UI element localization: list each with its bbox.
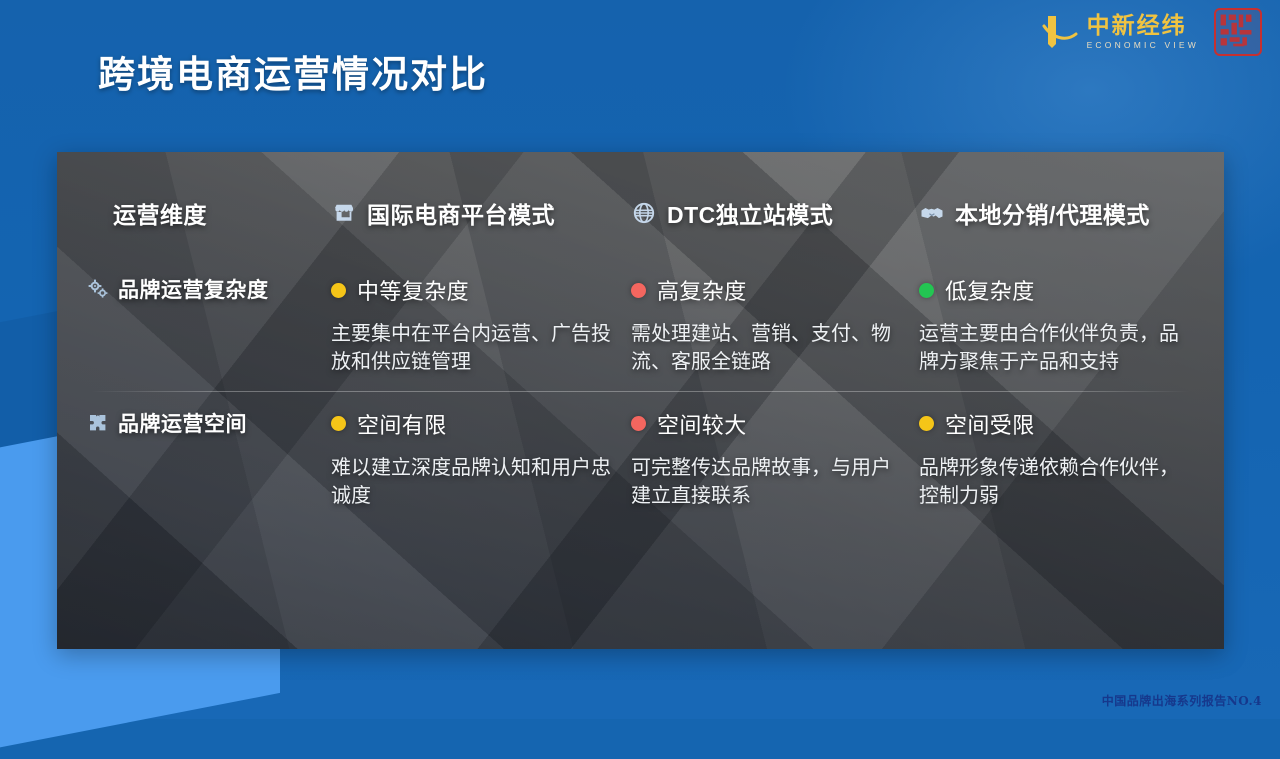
header-label: 本地分销/代理模式 xyxy=(955,196,1150,230)
cell-description: 运营主要由合作伙伴负责，品牌方聚焦于产品和支持 xyxy=(919,320,1200,377)
row-header-space: 品牌运营空间 xyxy=(81,408,331,438)
status-badge: 中等复杂度 xyxy=(357,274,469,306)
gears-icon xyxy=(87,278,109,300)
brand-logo: 中新经纬 ECONOMIC VIEW xyxy=(1042,8,1262,56)
cell-description: 难以建立深度品牌认知和用户忠诚度 xyxy=(331,454,631,511)
header-cell-dimension: 运营维度 xyxy=(81,196,331,230)
comparison-table: 运营维度 国际电商平台模式 DTC独立站模式 xyxy=(57,152,1224,649)
row-label: 品牌运营空间 xyxy=(118,408,247,438)
row-label: 品牌运营复杂度 xyxy=(118,274,269,304)
cell-description: 主要集中在平台内运营、广告投放和供应链管理 xyxy=(331,320,631,377)
table-row: 品牌运营复杂度 中等复杂度 主要集中在平台内运营、广告投放和供应链管理 高复杂度… xyxy=(81,258,1200,391)
cell-complexity-local: 低复杂度 运营主要由合作伙伴负责，品牌方聚焦于产品和支持 xyxy=(919,274,1200,377)
cell-space-dtc: 空间较大 可完整传达品牌故事，与用户建立直接联系 xyxy=(631,408,919,511)
status-dot xyxy=(631,283,646,298)
status-badge: 低复杂度 xyxy=(945,274,1035,306)
status-badge: 空间较大 xyxy=(657,408,747,440)
red-seal-icon xyxy=(1214,8,1262,56)
page-title: 跨境电商运营情况对比 xyxy=(98,44,488,98)
status-dot xyxy=(919,283,934,298)
storefront-icon xyxy=(331,200,357,226)
cell-description: 可完整传达品牌故事，与用户建立直接联系 xyxy=(631,454,919,511)
table-header-row: 运营维度 国际电商平台模式 DTC独立站模式 xyxy=(81,196,1200,258)
globe-icon xyxy=(631,200,657,226)
status-dot xyxy=(331,416,346,431)
header-label: DTC独立站模式 xyxy=(667,196,833,230)
status-badge: 空间受限 xyxy=(945,408,1035,440)
status-dot xyxy=(631,416,646,431)
status-dot xyxy=(331,283,346,298)
puzzle-icon xyxy=(87,412,109,434)
status-dot xyxy=(919,416,934,431)
brand-wordmark: 中新经纬 ECONOMIC VIEW xyxy=(1087,15,1199,50)
brand-name-en: ECONOMIC VIEW xyxy=(1087,41,1199,50)
report-footer: 中国品牌出海系列报告NO.4 xyxy=(1102,692,1262,709)
header-cell-local: 本地分销/代理模式 xyxy=(919,196,1200,230)
header-cell-platform: 国际电商平台模式 xyxy=(331,196,631,230)
comparison-panel: 运营维度 国际电商平台模式 DTC独立站模式 xyxy=(57,152,1224,649)
cell-space-local: 空间受限 品牌形象传递依赖合作伙伴，控制力弱 xyxy=(919,408,1200,511)
cell-complexity-platform: 中等复杂度 主要集中在平台内运营、广告投放和供应链管理 xyxy=(331,274,631,377)
header-label: 国际电商平台模式 xyxy=(367,196,555,230)
v-swoosh-icon xyxy=(1042,12,1078,52)
status-badge: 空间有限 xyxy=(357,408,447,440)
row-header-complexity: 品牌运营复杂度 xyxy=(81,274,331,304)
header-cell-dtc: DTC独立站模式 xyxy=(631,196,919,230)
cell-description: 需处理建站、营销、支付、物流、客服全链路 xyxy=(631,320,919,377)
cell-description: 品牌形象传递依赖合作伙伴，控制力弱 xyxy=(919,454,1200,511)
handshake-icon xyxy=(919,200,945,226)
table-row: 品牌运营空间 空间有限 难以建立深度品牌认知和用户忠诚度 空间较大 可完整传达品… xyxy=(81,392,1200,525)
cell-complexity-dtc: 高复杂度 需处理建站、营销、支付、物流、客服全链路 xyxy=(631,274,919,377)
status-badge: 高复杂度 xyxy=(657,274,747,306)
header-label: 运营维度 xyxy=(113,196,207,230)
brand-name-cn: 中新经纬 xyxy=(1087,15,1199,38)
cell-space-platform: 空间有限 难以建立深度品牌认知和用户忠诚度 xyxy=(331,408,631,511)
